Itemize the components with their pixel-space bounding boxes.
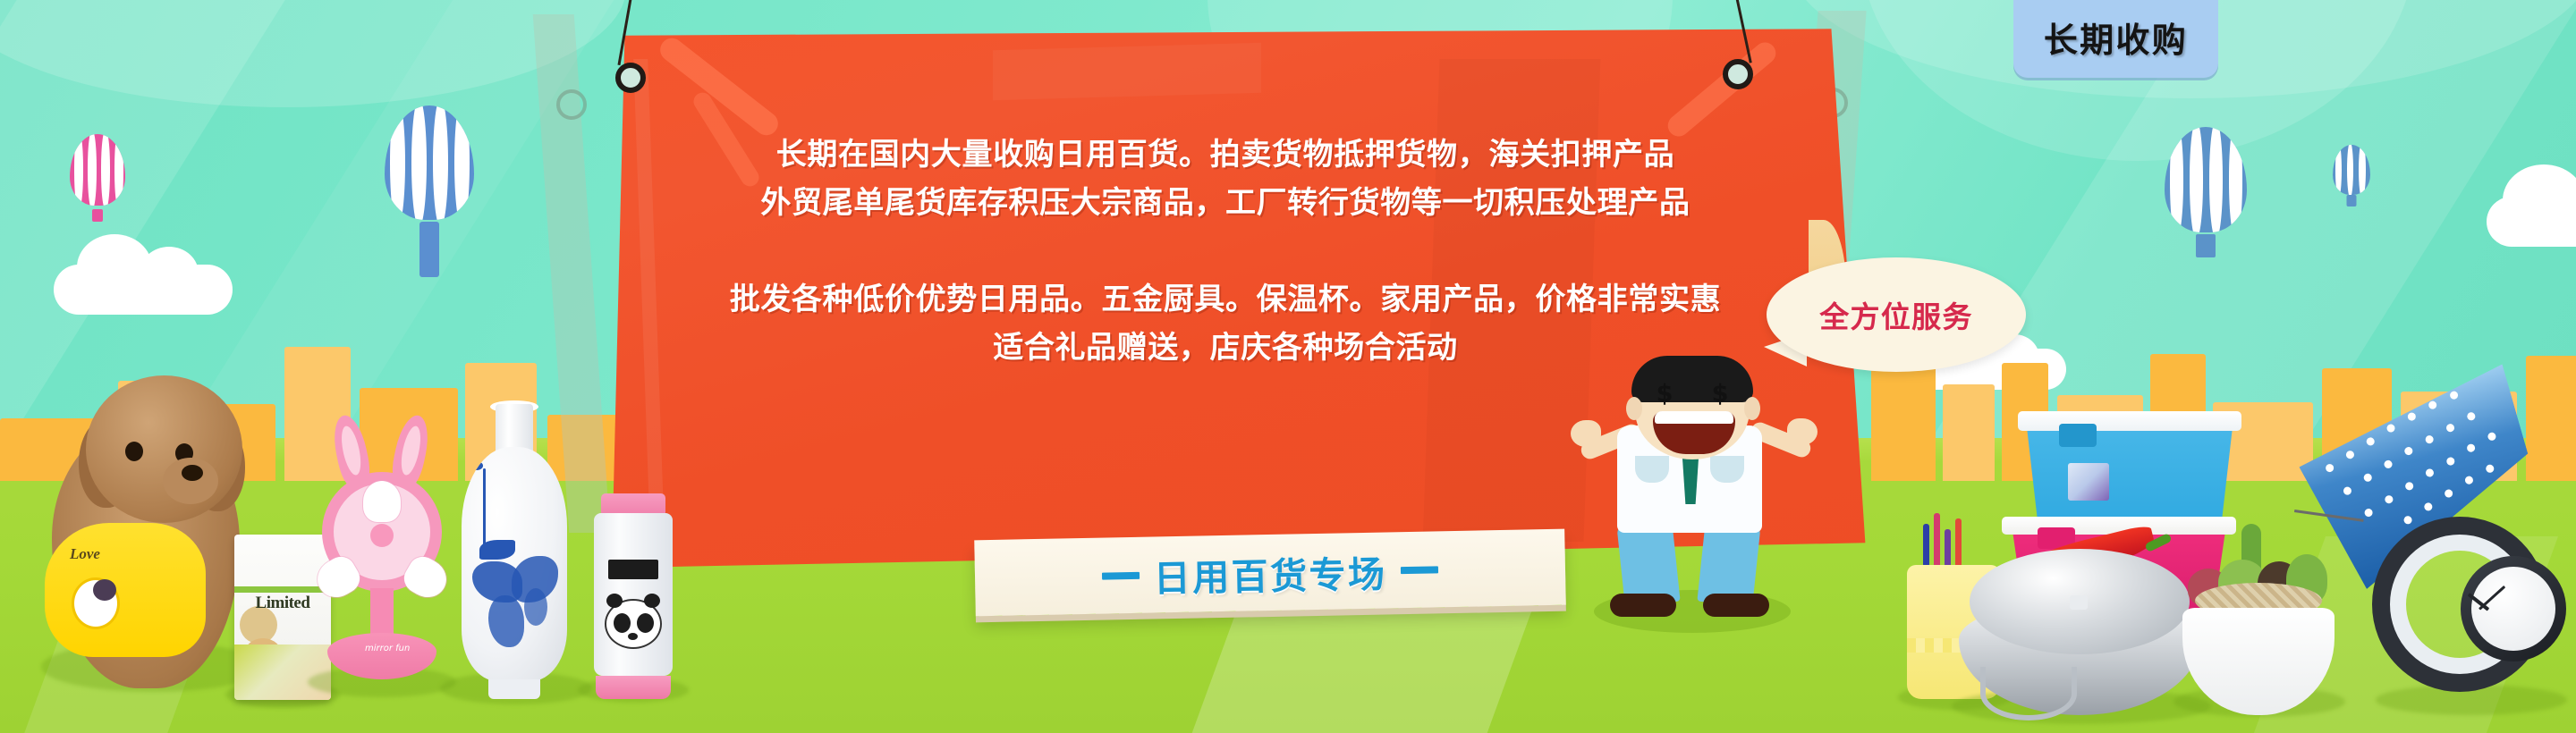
vase-body bbox=[462, 447, 567, 681]
steel-pan-with-chili bbox=[1959, 536, 2200, 715]
thermos-body bbox=[594, 513, 673, 676]
thermos-panda-nose bbox=[628, 633, 638, 640]
blue-box-clip bbox=[2059, 424, 2097, 447]
thermos-panda-ear-right bbox=[644, 594, 660, 608]
man-hand-left bbox=[1571, 420, 1601, 447]
vase-foot bbox=[488, 679, 540, 699]
succulent-planter bbox=[2182, 536, 2334, 715]
fan-base bbox=[327, 633, 436, 679]
vase-blue-motif-1 bbox=[470, 461, 483, 470]
cartoon-salesman: $ $ bbox=[1583, 356, 1807, 633]
blue-box-sticker bbox=[2068, 463, 2109, 501]
man-ear-left bbox=[1626, 397, 1642, 420]
banner-text-block: 长期在国内大量收购日用百货。拍卖货物抵押货物，海关扣押产品 外贸尾单尾货库存积压… bbox=[572, 131, 1878, 372]
vase-blue-motif-7 bbox=[524, 588, 547, 626]
fan-hub bbox=[370, 524, 394, 547]
man-shoe-left bbox=[1610, 594, 1676, 617]
man-pocket-left bbox=[1635, 456, 1669, 483]
sign-dash-right bbox=[1401, 566, 1438, 574]
pan-wire-handle bbox=[1980, 667, 2077, 720]
panda-thermos-bottle bbox=[592, 493, 674, 699]
cloud-right bbox=[2487, 197, 2576, 247]
wrist-watch bbox=[2372, 517, 2564, 704]
hot-air-balloon-blue-right-1 bbox=[2165, 127, 2247, 232]
poodle-shirt-graphic-eye bbox=[93, 579, 116, 601]
rabbit-mini-fan: mirror fun bbox=[315, 420, 449, 688]
hot-air-balloon-blue-large bbox=[385, 105, 474, 220]
banner-grommet-right bbox=[1723, 59, 1753, 89]
sign-text-row: 日用百货专场 bbox=[974, 529, 1566, 617]
building-9 bbox=[1943, 384, 1995, 481]
thermos-panda-eye-left bbox=[614, 613, 631, 633]
cloud-left bbox=[54, 265, 233, 315]
banner-grommet-left bbox=[615, 63, 646, 93]
poodle-nose bbox=[182, 465, 203, 481]
porcelain-vase bbox=[462, 404, 567, 699]
fan-blade-1 bbox=[363, 481, 401, 522]
speech-bubble: 全方位服务 bbox=[1767, 257, 2026, 372]
banner-line-2: 外贸尾单尾货库存积压大宗商品，工厂转行货物等一切积压处理产品 bbox=[572, 179, 1878, 227]
poodle-shirt-text: Love bbox=[70, 545, 100, 563]
pan-lid-knob bbox=[2070, 595, 2088, 610]
man-ear-right bbox=[1744, 397, 1760, 420]
man-hand-right bbox=[1787, 418, 1818, 445]
thermos-panda-ear-left bbox=[606, 594, 623, 608]
building-16 bbox=[2526, 356, 2576, 481]
vase-blue-motif-3 bbox=[479, 540, 515, 560]
thermos-label bbox=[608, 560, 658, 579]
man-hair bbox=[1631, 356, 1753, 402]
blue-box-lid bbox=[2018, 411, 2241, 431]
thermos-panda-eye-right bbox=[637, 613, 654, 633]
vase-blue-motif-2 bbox=[483, 468, 486, 545]
banner-pole-ring-left bbox=[556, 89, 587, 120]
promo-banner-image: 长期在国内大量收购日用百货。拍卖货物抵押货物，海关扣押产品 外贸尾单尾货库存积压… bbox=[0, 0, 2576, 733]
man-shoe-right bbox=[1703, 594, 1769, 617]
planter-bowl bbox=[2182, 608, 2334, 715]
hot-air-balloon-blue-right-2 bbox=[2333, 145, 2370, 195]
speech-bubble-label: 全方位服务 bbox=[1819, 293, 1973, 336]
banner-line-spacer bbox=[572, 227, 1878, 275]
sign-label: 日用百货专场 bbox=[1153, 543, 1387, 602]
long-term-purchase-badge[interactable]: 长期收购 bbox=[2013, 0, 2218, 78]
thermos-bottom-ring bbox=[596, 676, 671, 699]
banner-line-3: 批发各种低价优势日用品。五金厨具。保温杯。家用产品，价格非常实惠 bbox=[572, 275, 1878, 324]
banner-line-1: 长期在国内大量收购日用百货。拍卖货物抵押货物，海关扣押产品 bbox=[572, 131, 1878, 179]
badge-label: 长期收购 bbox=[2044, 20, 2188, 60]
poodle-head bbox=[86, 375, 242, 523]
man-eye-right-dollar-icon: $ bbox=[1708, 383, 1732, 406]
category-sign-board[interactable]: 日用百货专场 bbox=[974, 529, 1566, 617]
hot-air-balloon-pink bbox=[70, 134, 125, 206]
man-teeth bbox=[1655, 411, 1733, 424]
man-eye-left-dollar-icon: $ bbox=[1653, 383, 1676, 406]
poodle-eye-left bbox=[125, 442, 143, 461]
vase-blue-motif-6 bbox=[488, 595, 524, 647]
man-pocket-right bbox=[1710, 456, 1744, 483]
fan-base-text: mirror fun bbox=[365, 644, 410, 653]
sign-dash-left bbox=[1102, 571, 1140, 579]
poodle-yellow-shirt bbox=[45, 523, 206, 657]
